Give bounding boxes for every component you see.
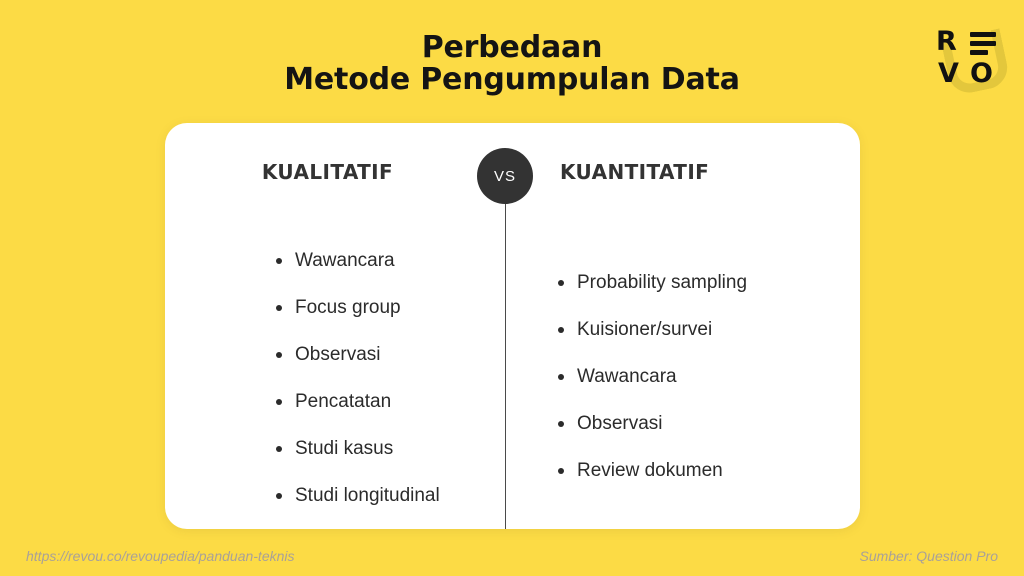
- list-item: Wawancara: [555, 367, 747, 386]
- list-item: Pencatatan: [273, 392, 440, 411]
- list-item: Wawancara: [273, 251, 440, 270]
- column-heading-quantitative: KUANTITATIF: [535, 160, 860, 184]
- vs-badge: VS: [477, 148, 533, 204]
- comparison-card: KUALITATIF KUANTITATIF VS Wawancara Focu…: [165, 123, 860, 529]
- list-item: Probability sampling: [555, 273, 747, 292]
- list-item: Kuisioner/survei: [555, 320, 747, 339]
- list-item: Observasi: [555, 414, 747, 433]
- quantitative-list: Probability sampling Kuisioner/survei Wa…: [555, 273, 747, 508]
- footer-source: Sumber: Question Pro: [859, 548, 998, 564]
- title-line-1: Perbedaan: [422, 30, 602, 65]
- list-item: Studi longitudinal: [273, 486, 440, 505]
- slide-canvas: R V O Perbedaan Metode Pengumpulan Data …: [0, 0, 1024, 576]
- slide-title: Perbedaan Metode Pengumpulan Data: [0, 32, 1024, 97]
- list-item: Observasi: [273, 345, 440, 364]
- column-heading-qualitative: KUALITATIF: [165, 160, 490, 184]
- footer-url[interactable]: https://revou.co/revoupedia/panduan-tekn…: [26, 548, 295, 564]
- column-divider: [505, 203, 506, 529]
- list-item: Focus group: [273, 298, 440, 317]
- qualitative-list: Wawancara Focus group Observasi Pencatat…: [273, 251, 440, 533]
- title-line-2: Metode Pengumpulan Data: [0, 64, 1024, 96]
- list-item: Review dokumen: [555, 461, 747, 480]
- list-item: Studi kasus: [273, 439, 440, 458]
